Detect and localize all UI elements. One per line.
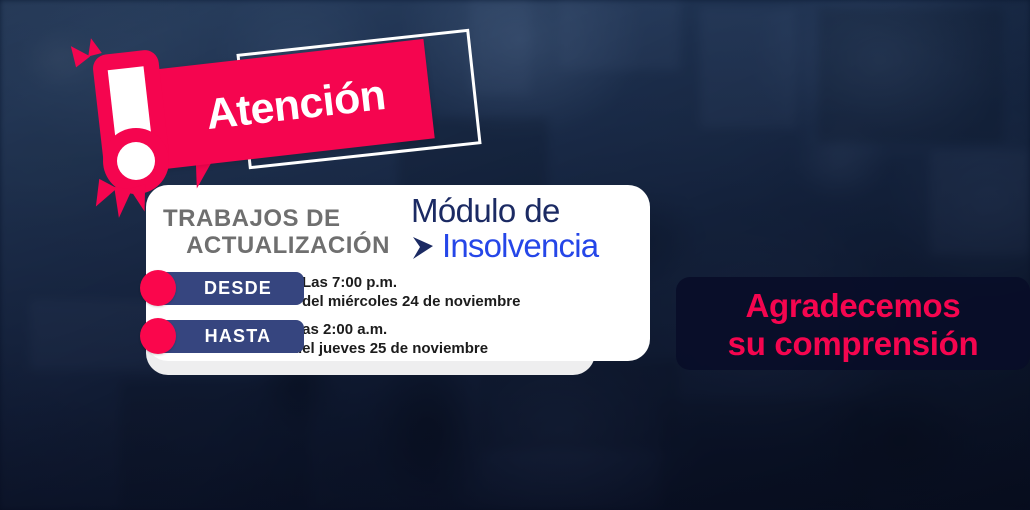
title-line-1: TRABAJOS DE [163,205,413,232]
label-desde: DESDE [156,272,304,305]
schedule-row-desde: DESDE [140,270,304,306]
page-title: TRABAJOS DE ACTUALIZACIÓN [163,205,413,259]
thanks-message: Agradecemos su comprensión [676,287,1030,363]
hasta-time: Las 2:00 a.m. [293,320,488,339]
schedule-value-desde: Las 7:00 p.m. del miércoles 24 de noviem… [302,273,520,311]
announcement-banner-image: TRABAJOS DE ACTUALIZACIÓN Módulo de Inso… [0,0,1030,510]
logo-line-bottom-wrap: Insolvencia [411,229,611,262]
title-line-2: ACTUALIZACIÓN [163,232,413,259]
bullet-dot-icon [140,318,176,354]
desde-date: del miércoles 24 de noviembre [302,292,520,311]
chevron-right-arrow-icon [411,235,441,261]
bullet-dot-icon [140,270,176,306]
label-hasta: HASTA [156,320,304,353]
hasta-date: del jueves 25 de noviembre [293,339,488,358]
modulo-insolvencia-logo: Módulo de Insolvencia [411,194,611,264]
thanks-line-1: Agradecemos [676,287,1030,325]
logo-line-bottom: Insolvencia [442,229,598,262]
schedule-row-hasta: HASTA [140,318,304,354]
schedule-value-hasta: Las 2:00 a.m. del jueves 25 de noviembre [293,320,488,358]
logo-line-top: Módulo de [411,194,611,227]
desde-time: Las 7:00 p.m. [302,273,520,292]
thanks-line-2: su comprensión [676,325,1030,363]
